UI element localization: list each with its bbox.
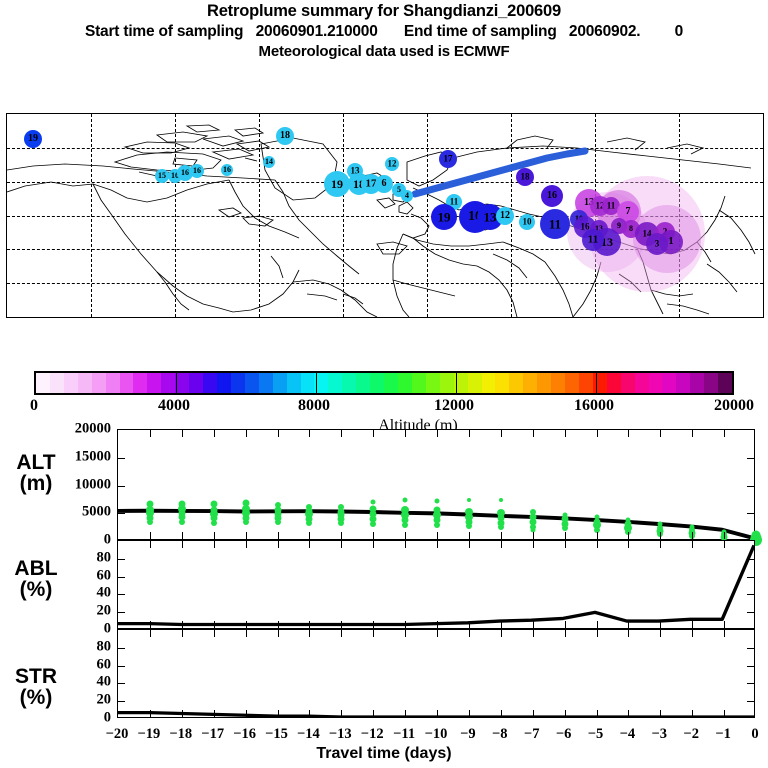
- y-tick-label: 0: [0, 710, 111, 727]
- x-tick-label: −7: [524, 726, 540, 743]
- colorbar-divider: [316, 373, 317, 393]
- str-line: [118, 630, 754, 717]
- colorbar-segment: [426, 373, 440, 393]
- x-tick-mark: [597, 710, 598, 717]
- trajectory-line: [7, 114, 763, 317]
- x-tick-mark: [150, 630, 151, 637]
- colorbar-wrapper: 040008000120001600020000 Altitude (m): [34, 371, 734, 395]
- world-map-panel: 1918161614151616121319181765417181119161…: [6, 113, 764, 318]
- colorbar-segment: [412, 373, 426, 393]
- y-tick-mark: [747, 458, 754, 459]
- colorbar-segment: [662, 373, 676, 393]
- x-tick-mark: [341, 532, 342, 539]
- x-tick-mark: [341, 710, 342, 717]
- plume-blob-label: 18: [280, 131, 290, 141]
- x-tick-mark: [309, 430, 310, 437]
- x-tick-mark: [469, 532, 470, 539]
- colorbar-tick-label: 4000: [158, 397, 190, 415]
- alt-scatter-dot: [211, 520, 217, 526]
- alt-name-text: ALT: [16, 451, 55, 474]
- colorbar-segment: [523, 373, 537, 393]
- alt-scatter-dot: [467, 498, 471, 502]
- x-tick-label: −10: [425, 726, 448, 743]
- x-tick-mark: [309, 710, 310, 717]
- colorbar-segment: [398, 373, 412, 393]
- x-tick-label: −13: [329, 726, 352, 743]
- abl-line: [118, 541, 754, 628]
- colorbar-segment: [495, 373, 509, 393]
- map-inner: 1918161614151616121319181765417181119161…: [7, 114, 763, 317]
- colorbar-segment: [537, 373, 551, 393]
- x-tick-mark: [405, 630, 406, 637]
- x-tick-mark: [182, 621, 183, 628]
- alt-scatter-points: [118, 430, 754, 539]
- x-tick-mark: [373, 532, 374, 539]
- plume-blob-label: 8: [629, 225, 633, 233]
- plume-blob-label: 11: [549, 218, 561, 231]
- x-tick-label: −12: [361, 726, 384, 743]
- x-tick-label: −5: [588, 726, 604, 743]
- x-tick-mark: [309, 630, 310, 637]
- alt-scatter-dot: [306, 520, 312, 526]
- x-tick-mark: [373, 621, 374, 628]
- y-tick-mark: [118, 648, 125, 649]
- colorbar-tick-labels: 040008000120001600020000: [0, 397, 768, 417]
- alt-scatter-dot: [402, 522, 408, 528]
- x-tick-mark: [309, 621, 310, 628]
- x-tick-label: −16: [233, 726, 256, 743]
- plume-blob-label: 1: [669, 237, 674, 247]
- x-tick-mark: [501, 710, 502, 717]
- x-tick-mark: [278, 710, 279, 717]
- plume-blob-label: 12: [500, 211, 510, 221]
- x-tick-mark: [660, 710, 661, 717]
- end-time-value-second: 0: [675, 23, 683, 40]
- colorbar-segment: [147, 373, 161, 393]
- alt-scatter-dot: [498, 524, 504, 530]
- plume-blob-label: 19: [28, 134, 38, 144]
- colorbar-segment: [370, 373, 384, 393]
- alt-scatter-dot: [338, 520, 344, 526]
- x-tick-mark: [182, 710, 183, 717]
- y-tick-mark: [747, 513, 754, 514]
- x-tick-mark: [724, 621, 725, 628]
- colorbar-segment: [287, 373, 301, 393]
- x-tick-mark: [628, 630, 629, 637]
- alt-scatter-dot: [179, 519, 185, 525]
- colorbar-segment: [301, 373, 315, 393]
- colorbar-segment: [133, 373, 147, 393]
- colorbar-divider: [456, 373, 457, 393]
- str-name-text: STR: [15, 665, 57, 688]
- met-data-line: Meteorological data used is ECMWF: [0, 43, 768, 60]
- abl-plot-panel: [117, 540, 755, 629]
- plume-blob-label: 5: [397, 186, 401, 194]
- x-tick-mark: [692, 630, 693, 637]
- y-tick-mark: [747, 648, 754, 649]
- x-tick-label: −2: [683, 726, 699, 743]
- abl-unit-text: (%): [20, 578, 53, 601]
- x-tick-mark: [469, 430, 470, 437]
- x-tick-mark: [405, 710, 406, 717]
- x-tick-mark: [373, 630, 374, 637]
- x-tick-label: −14: [297, 726, 320, 743]
- x-tick-mark: [246, 430, 247, 437]
- x-tick-mark: [214, 532, 215, 539]
- x-tick-mark: [214, 541, 215, 548]
- x-tick-mark: [533, 630, 534, 637]
- x-tick-mark: [437, 532, 438, 539]
- x-tick-mark: [150, 430, 151, 437]
- plume-blob-label: 9: [617, 222, 621, 230]
- colorbar-tick-label: 0: [30, 397, 38, 415]
- colorbar-segment: [175, 373, 189, 393]
- colorbar-segment: [384, 373, 398, 393]
- x-tick-mark: [469, 630, 470, 637]
- x-tick-label: −8: [492, 726, 508, 743]
- x-tick-label: −3: [652, 726, 668, 743]
- abl-row-label: ABL (%): [2, 558, 70, 601]
- y-tick-mark: [747, 594, 754, 595]
- colorbar-segment: [593, 373, 607, 393]
- alt-scatter-dot: [371, 499, 376, 504]
- x-tick-mark: [628, 532, 629, 539]
- alt-scatter-dot: [499, 498, 503, 502]
- x-tick-mark: [341, 430, 342, 437]
- x-tick-mark: [405, 621, 406, 628]
- x-tick-label: −19: [138, 726, 161, 743]
- x-tick-mark: [405, 430, 406, 437]
- x-tick-mark: [724, 710, 725, 717]
- colorbar-segment: [328, 373, 342, 393]
- plume-blob-label: 15: [158, 172, 166, 180]
- colorbar-segment: [231, 373, 245, 393]
- x-tick-label: −11: [393, 726, 415, 743]
- colorbar-segment: [690, 373, 704, 393]
- plume-blob-label: 18: [521, 173, 530, 182]
- x-axis-title: Travel time (days): [0, 745, 768, 763]
- alt-scatter-dot: [370, 521, 376, 527]
- end-time-value: 20060902.: [569, 23, 640, 40]
- x-tick-mark: [501, 621, 502, 628]
- x-tick-mark: [692, 710, 693, 717]
- colorbar-tick-label: 12000: [434, 397, 474, 415]
- x-tick-label: −1: [715, 726, 731, 743]
- x-tick-mark: [724, 630, 725, 637]
- x-tick-mark: [565, 630, 566, 637]
- plume-blob-label: 3: [655, 240, 660, 249]
- x-tick-mark: [405, 532, 406, 539]
- y-tick-mark: [118, 559, 125, 560]
- plume-blob-label: 11: [607, 202, 616, 211]
- alt-scatter-dot: [243, 519, 249, 525]
- colorbar-segment: [203, 373, 217, 393]
- x-tick-mark: [278, 430, 279, 437]
- start-time-label: Start time of sampling: [85, 23, 243, 40]
- y-tick-mark: [747, 666, 754, 667]
- colorbar-segment: [468, 373, 482, 393]
- x-tick-label: −18: [169, 726, 192, 743]
- x-tick-mark: [278, 532, 279, 539]
- abl-polyline: [118, 545, 754, 624]
- x-tick-mark: [309, 532, 310, 539]
- x-tick-mark: [214, 630, 215, 637]
- plume-blob-label: 11: [588, 235, 598, 246]
- plume-blob-label: 16: [181, 169, 189, 177]
- colorbar-segment: [106, 373, 120, 393]
- colorbar-divider: [176, 373, 177, 393]
- colorbar-segment: [440, 373, 454, 393]
- colorbar-segment: [189, 373, 203, 393]
- colorbar-segment: [78, 373, 92, 393]
- y-tick-mark: [118, 666, 125, 667]
- x-tick-mark: [437, 621, 438, 628]
- x-tick-mark: [628, 430, 629, 437]
- x-tick-label: −6: [556, 726, 572, 743]
- y-tick-mark: [118, 701, 125, 702]
- x-tick-mark: [309, 541, 310, 548]
- x-tick-label: −15: [265, 726, 288, 743]
- x-tick-mark: [214, 430, 215, 437]
- x-tick-mark: [182, 541, 183, 548]
- x-tick-mark: [501, 532, 502, 539]
- x-tick-mark: [182, 430, 183, 437]
- x-tick-mark: [373, 710, 374, 717]
- alt-plot-panel: [117, 429, 755, 540]
- sampling-time-line: Start time of sampling 20060901.210000 E…: [0, 23, 768, 41]
- alt-unit-text: (m): [20, 472, 53, 495]
- x-tick-mark: [437, 430, 438, 437]
- x-tick-mark: [437, 541, 438, 548]
- x-axis-tick-labels: −20−19−18−17−16−15−14−13−12−11−10−9−8−7−…: [0, 726, 768, 746]
- x-tick-mark: [692, 430, 693, 437]
- plume-blob-label: 16: [193, 167, 201, 175]
- x-tick-mark: [565, 710, 566, 717]
- x-tick-mark: [182, 630, 183, 637]
- x-tick-mark: [437, 710, 438, 717]
- x-tick-mark: [341, 630, 342, 637]
- colorbar-segment: [565, 373, 579, 393]
- x-tick-mark: [437, 630, 438, 637]
- colorbar-segment: [704, 373, 718, 393]
- str-row-label: STR (%): [2, 666, 70, 709]
- colorbar-tick-label: 20000: [714, 397, 754, 415]
- x-tick-label: −20: [106, 726, 129, 743]
- x-tick-mark: [278, 541, 279, 548]
- y-tick-mark: [747, 701, 754, 702]
- abl-name-text: ABL: [14, 557, 57, 580]
- y-tick-mark: [118, 486, 125, 487]
- x-tick-mark: [533, 710, 534, 717]
- y-tick-mark: [118, 612, 125, 613]
- colorbar-segment: [579, 373, 593, 393]
- colorbar-segment: [36, 373, 50, 393]
- x-tick-mark: [692, 532, 693, 539]
- x-tick-mark: [150, 621, 151, 628]
- x-tick-mark: [469, 621, 470, 628]
- x-tick-label: −4: [620, 726, 636, 743]
- plume-blob-label: 10: [523, 218, 532, 227]
- x-tick-mark: [724, 532, 725, 539]
- x-tick-mark: [182, 532, 183, 539]
- x-tick-mark: [565, 532, 566, 539]
- x-tick-label: −9: [460, 726, 476, 743]
- x-tick-mark: [373, 430, 374, 437]
- y-tick-mark: [747, 559, 754, 560]
- y-tick-mark: [118, 594, 125, 595]
- start-time-value: 20060901.210000: [256, 23, 378, 40]
- colorbar-tick-label: 16000: [574, 397, 614, 415]
- y-tick-label: 80: [0, 638, 111, 655]
- x-tick-mark: [150, 532, 151, 539]
- colorbar-segment: [718, 373, 732, 393]
- colorbar-segment: [217, 373, 231, 393]
- x-tick-mark: [692, 621, 693, 628]
- x-tick-mark: [469, 710, 470, 717]
- x-tick-label: −17: [201, 726, 224, 743]
- x-tick-mark: [597, 621, 598, 628]
- x-tick-mark: [660, 621, 661, 628]
- colorbar-segment: [50, 373, 64, 393]
- plume-blob-label: 6: [382, 179, 387, 189]
- y-tick-mark: [747, 683, 754, 684]
- colorbar-segment: [649, 373, 663, 393]
- plume-blob-label: 17: [444, 155, 453, 164]
- x-tick-mark: [150, 710, 151, 717]
- colorbar-segment: [259, 373, 273, 393]
- x-tick-mark: [533, 430, 534, 437]
- colorbar-segment: [676, 373, 690, 393]
- x-tick-mark: [533, 621, 534, 628]
- x-tick-label: 0: [751, 726, 758, 743]
- x-tick-mark: [501, 630, 502, 637]
- y-tick-mark: [747, 486, 754, 487]
- x-tick-mark: [597, 541, 598, 548]
- plume-blob-label: 13: [484, 211, 497, 224]
- x-tick-mark: [660, 430, 661, 437]
- x-tick-mark: [597, 532, 598, 539]
- y-tick-mark: [118, 683, 125, 684]
- alt-scatter-dot: [435, 499, 440, 504]
- alt-scatter-dot: [562, 525, 568, 531]
- colorbar-tick-label: 8000: [298, 397, 330, 415]
- colorbar-segment: [356, 373, 370, 393]
- colorbar-segment: [621, 373, 635, 393]
- x-tick-mark: [565, 541, 566, 548]
- x-tick-mark: [341, 541, 342, 548]
- y-tick-label: 0: [0, 621, 111, 638]
- x-tick-mark: [565, 621, 566, 628]
- x-tick-mark: [373, 541, 374, 548]
- plume-blob-label: 12: [388, 160, 397, 169]
- x-tick-mark: [150, 541, 151, 548]
- plume-blob-label: 7: [626, 207, 631, 217]
- alt-scatter-dot: [275, 519, 281, 525]
- x-tick-mark: [660, 630, 661, 637]
- y-tick-label: 0: [0, 532, 111, 549]
- colorbar-segment: [120, 373, 134, 393]
- x-tick-mark: [246, 541, 247, 548]
- x-tick-mark: [246, 710, 247, 717]
- plume-blob-label: 14: [265, 158, 273, 166]
- colorbar-segment: [245, 373, 259, 393]
- end-time-label: End time of sampling: [404, 23, 557, 40]
- x-tick-mark: [565, 430, 566, 437]
- x-tick-mark: [501, 541, 502, 548]
- x-tick-mark: [469, 541, 470, 548]
- x-tick-mark: [278, 630, 279, 637]
- x-tick-mark: [214, 621, 215, 628]
- y-tick-mark: [747, 577, 754, 578]
- altitude-colorbar: [34, 371, 734, 395]
- colorbar-segment: [551, 373, 565, 393]
- x-tick-mark: [341, 621, 342, 628]
- x-tick-mark: [246, 630, 247, 637]
- page-title: Retroplume summary for Shangdianzi_20060…: [0, 2, 768, 21]
- x-tick-mark: [405, 541, 406, 548]
- colorbar-segment: [482, 373, 496, 393]
- x-tick-mark: [246, 532, 247, 539]
- colorbar-segment: [64, 373, 78, 393]
- colorbar-segment: [161, 373, 175, 393]
- x-tick-mark: [214, 710, 215, 717]
- y-tick-mark: [118, 458, 125, 459]
- x-tick-mark: [533, 541, 534, 548]
- x-tick-mark: [628, 621, 629, 628]
- plume-blob-label: 4: [405, 192, 409, 200]
- y-tick-mark: [118, 577, 125, 578]
- colorbar-segment: [273, 373, 287, 393]
- x-tick-mark: [278, 621, 279, 628]
- alt-scatter-dot: [403, 498, 408, 503]
- x-tick-mark: [597, 430, 598, 437]
- colorbar-segment: [635, 373, 649, 393]
- plume-blob-label: 16: [547, 191, 557, 201]
- alt-row-label: ALT (m): [2, 452, 70, 495]
- x-tick-mark: [628, 710, 629, 717]
- y-tick-label: 5000: [0, 504, 111, 521]
- x-tick-mark: [501, 430, 502, 437]
- x-tick-mark: [660, 541, 661, 548]
- plume-blob-label: 19: [331, 178, 343, 190]
- colorbar-segment: [342, 373, 356, 393]
- x-tick-mark: [660, 532, 661, 539]
- plume-blob-label: 16: [223, 166, 231, 174]
- colorbar-segment: [509, 373, 523, 393]
- x-tick-mark: [692, 541, 693, 548]
- alt-scatter-dot: [466, 523, 472, 529]
- str-plot-panel: [117, 629, 755, 718]
- x-tick-mark: [533, 532, 534, 539]
- alt-scatter-dot: [147, 519, 153, 525]
- y-tick-mark: [118, 513, 125, 514]
- y-tick-label: 20: [0, 603, 111, 620]
- str-unit-text: (%): [20, 686, 53, 709]
- alt-scatter-dot: [434, 522, 440, 528]
- title-block: Retroplume summary for Shangdianzi_20060…: [0, 2, 768, 60]
- colorbar-divider: [596, 373, 597, 393]
- x-tick-mark: [597, 630, 598, 637]
- plume-blob-label: 19: [438, 211, 451, 224]
- colorbar-segment: [92, 373, 106, 393]
- x-tick-mark: [724, 541, 725, 548]
- colorbar-segment: [607, 373, 621, 393]
- y-tick-mark: [747, 612, 754, 613]
- x-tick-mark: [628, 541, 629, 548]
- x-tick-mark: [246, 621, 247, 628]
- x-tick-mark: [724, 430, 725, 437]
